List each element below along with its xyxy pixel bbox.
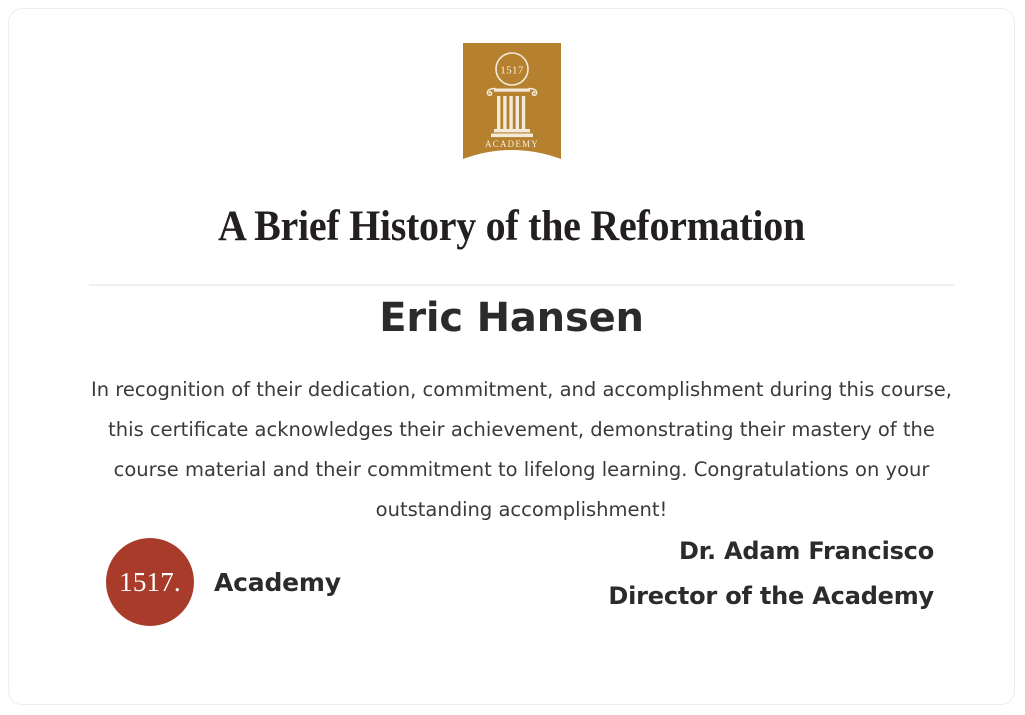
certificate-card: 1517 ACADEMY A Brief History of the xyxy=(8,8,1015,705)
signature-block: Dr. Adam Francisco Director of the Acade… xyxy=(608,529,934,619)
academy-column-banner-logo: 1517 ACADEMY xyxy=(463,43,561,159)
brand-block: 1517. Academy xyxy=(106,538,341,626)
recipient-name: Eric Hansen xyxy=(9,295,1014,341)
certificate-body-text: In recognition of their dedication, comm… xyxy=(87,370,956,530)
banner-year-text: 1517 xyxy=(500,65,524,77)
seal-1517-icon: 1517. xyxy=(106,538,194,626)
banner-academy-text: ACADEMY xyxy=(485,139,539,149)
signatory-role: Director of the Academy xyxy=(608,574,934,619)
brand-name: Academy xyxy=(214,568,341,597)
certificate-title: A Brief History of the Reformation xyxy=(44,203,979,251)
signatory-name: Dr. Adam Francisco xyxy=(608,529,934,574)
seal-text: 1517. xyxy=(119,569,181,596)
title-divider xyxy=(89,284,954,286)
logo-container: 1517 ACADEMY xyxy=(9,43,1014,159)
certificate-footer: 1517. Academy Dr. Adam Francisco Directo… xyxy=(9,529,1014,639)
